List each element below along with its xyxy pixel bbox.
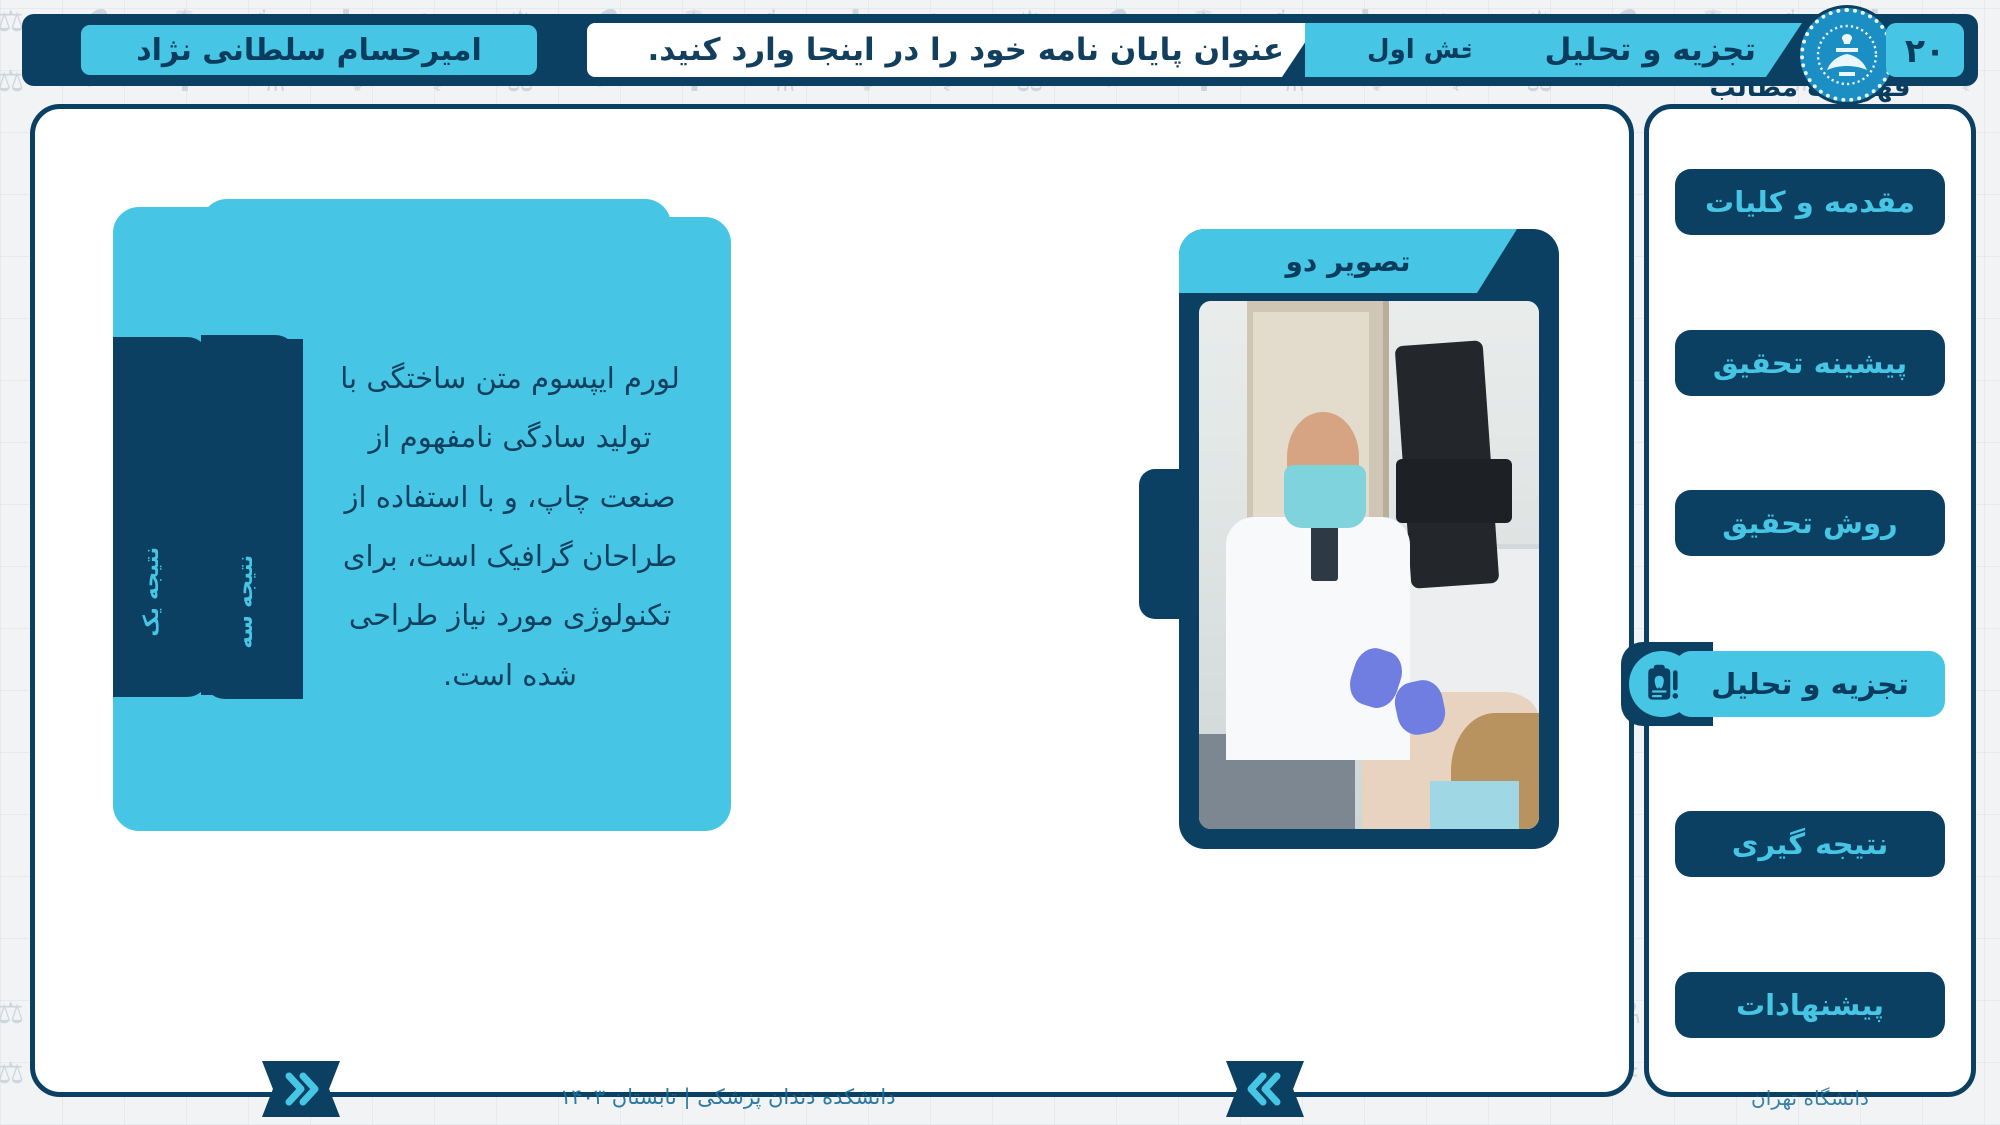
image-card-caption: تصویر دو (1179, 229, 1517, 293)
sidebar-item-label: روش تحقیق (1722, 506, 1897, 540)
sidebar-item-analysis[interactable]: تجزیه و تحلیل (1675, 651, 1945, 717)
text-card-back-tab-label: نتیجه یک (139, 547, 163, 637)
text-card-back-tab[interactable]: نتیجه یک (113, 337, 209, 697)
sidebar-item-conclusion[interactable]: نتیجه گیری (1675, 811, 1945, 877)
image-card-side-tab (1139, 469, 1199, 619)
image-card[interactable]: تصویر دو (1179, 229, 1559, 849)
sidebar-item-label: پیشینه تحقیق (1713, 346, 1907, 380)
section-label: تجزیه و تحلیل (1470, 23, 1802, 77)
text-card-body: لورم ایپسوم متن ساختگی با تولید سادگی نا… (333, 253, 687, 801)
sidebar-item-label: تجزیه و تحلیل (1711, 667, 1909, 701)
slide-header-bar: امیرحسام سلطانی نژاد عنوان پایان نامه خو… (22, 14, 1978, 86)
sidebar-item-label: مقدمه و کلیات (1705, 185, 1915, 219)
text-card-front-tab-label: نتیجه سه (233, 555, 257, 649)
sidebar-item-literature-review[interactable]: پیشینه تحقیق (1675, 330, 1945, 396)
previous-slide-button[interactable] (262, 1061, 340, 1117)
slide-footer-text: دانشکده دندان پزشکی | تابستان ۱۴۰۳ (560, 1085, 896, 1109)
chevron-double-left-icon (1245, 1072, 1285, 1106)
sidebar-item-label: پیشنهادات (1736, 988, 1884, 1022)
text-card-front[interactable]: نتیجه سه لورم ایپسوم متن ساختگی با تولید… (289, 217, 731, 831)
sidebar-item-introduction[interactable]: مقدمه و کلیات (1675, 169, 1945, 235)
sidebar-footer-label: دانشگاه تهران (1751, 1086, 1869, 1110)
text-card-front-tab[interactable]: نتیجه سه (203, 339, 303, 699)
sidebar-item-research-method[interactable]: روش تحقیق (1675, 490, 1945, 556)
dental-examination-photo (1199, 301, 1539, 829)
sidebar-item-suggestions[interactable]: پیشنهادات (1675, 972, 1945, 1038)
university-of-tehran-seal-icon (1800, 8, 1894, 102)
next-slide-button[interactable] (1226, 1061, 1304, 1117)
dental-clipboard-icon (1629, 651, 1695, 717)
slide-number: ۲۰ (1886, 23, 1964, 77)
main-content-panel: نتیجه یک نتیجه دو نتیجه سه لورم ایپسوم م… (30, 104, 1634, 1097)
table-of-contents-sidebar: فهرست مطالب مقدمه و کلیات پیشینه تحقیق ر… (1644, 104, 1976, 1097)
sidebar-item-list: مقدمه و کلیات پیشینه تحقیق روش تحقیق (1649, 161, 1971, 1046)
stacked-text-cards: نتیجه یک نتیجه دو نتیجه سه لورم ایپسوم م… (113, 199, 733, 839)
sidebar-item-label: نتیجه گیری (1732, 827, 1888, 861)
chevron-double-right-icon (281, 1072, 321, 1106)
thesis-title: عنوان پایان نامه خود را در اینجا وارد کن… (587, 23, 1318, 77)
author-name: امیرحسام سلطانی نژاد (81, 25, 537, 75)
author-chip: امیرحسام سلطانی نژاد (44, 14, 574, 86)
